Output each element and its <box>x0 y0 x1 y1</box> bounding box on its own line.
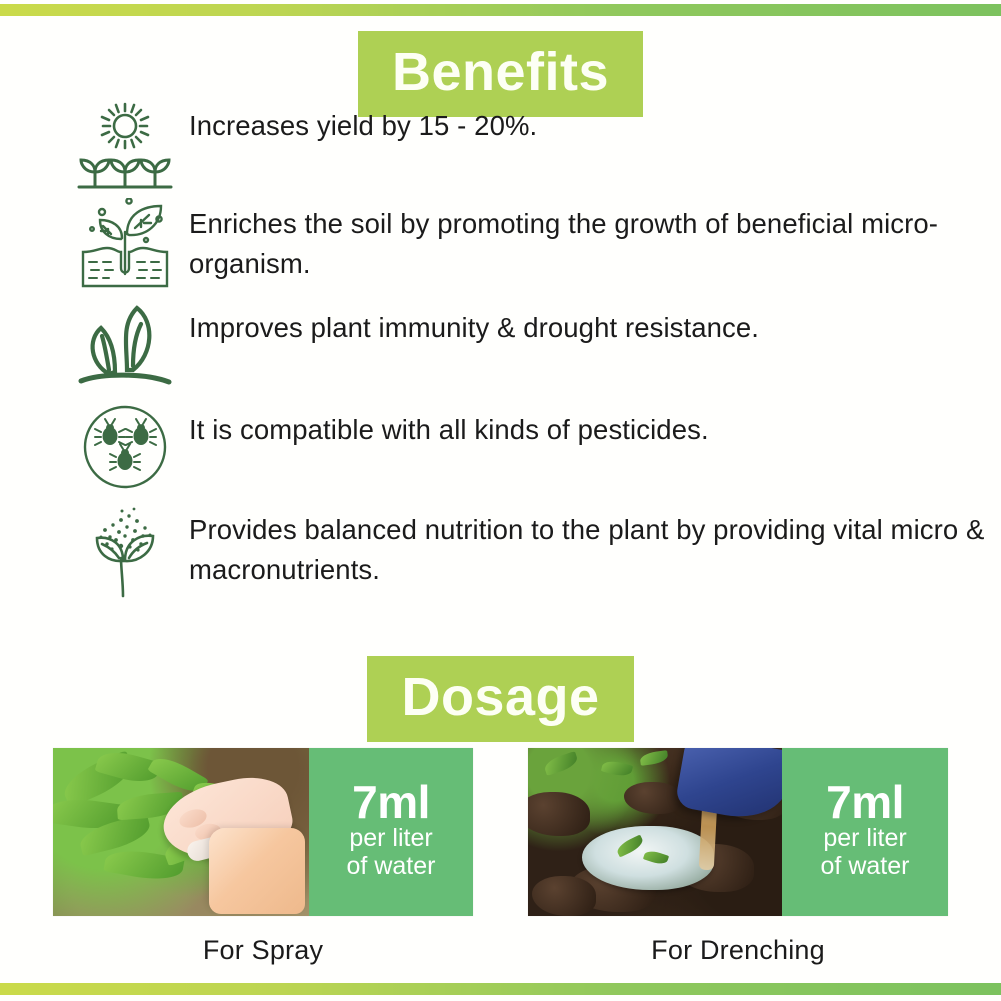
dosage-card-spray: 7ml per liter of water For Spray <box>53 748 473 966</box>
dosage-card-drenching: 7ml per liter of water For Drenching <box>528 748 948 966</box>
two-leaves-icon <box>72 302 177 388</box>
dosage-unit-line-2: of water <box>347 853 436 881</box>
sun-over-seedlings-icon <box>72 100 177 192</box>
benefit-item-balanced-nutrition: Provides balanced nutrition to the plant… <box>0 504 1001 600</box>
benefit-item-enriches-soil: Enriches the soil by promoting the growt… <box>0 198 1001 290</box>
dosage-card-caption: For Drenching <box>528 916 948 966</box>
sprout-with-nutrients-icon <box>72 504 177 600</box>
dosage-card-caption: For Spray <box>53 916 473 966</box>
watering-can-drenching-soil-photo <box>528 748 782 916</box>
dosage-unit-line-1: per liter <box>349 825 432 853</box>
dosage-unit-line-1: per liter <box>823 825 906 853</box>
benefit-item-pesticide-compatible: It is compatible with all kinds of pesti… <box>0 404 1001 496</box>
benefit-item-plant-immunity: Improves plant immunity & drought resist… <box>0 302 1001 394</box>
dosage-amount-panel: 7ml per liter of water <box>309 748 473 916</box>
hand-spraying-plants-photo <box>53 748 309 916</box>
dosage-title-banner: Dosage <box>367 656 633 742</box>
dosage-section-header: Dosage <box>0 656 1001 742</box>
dosage-amount: 7ml <box>352 780 430 825</box>
dosage-cards: 7ml per liter of water For Spray <box>0 748 1001 966</box>
benefit-item-increases-yield: Increases yield by 15 - 20%. <box>0 100 1001 192</box>
plant-in-soil-icon <box>72 198 177 288</box>
benefit-label: Improves plant immunity & drought resist… <box>177 302 759 348</box>
dosage-amount: 7ml <box>826 780 904 825</box>
dosage-unit-line-2: of water <box>821 853 910 881</box>
benefit-label: Enriches the soil by promoting the growt… <box>177 198 1001 285</box>
dosage-amount-panel: 7ml per liter of water <box>782 748 948 916</box>
benefit-label: Increases yield by 15 - 20%. <box>177 100 537 146</box>
insects-in-circle-icon <box>72 404 177 490</box>
benefit-label: Provides balanced nutrition to the plant… <box>177 504 1001 591</box>
top-border-stripe <box>0 4 1001 16</box>
bottom-border-stripe <box>0 983 1001 995</box>
benefits-list: Increases yield by 15 - 20%. <box>0 100 1001 600</box>
benefit-label: It is compatible with all kinds of pesti… <box>177 404 709 450</box>
